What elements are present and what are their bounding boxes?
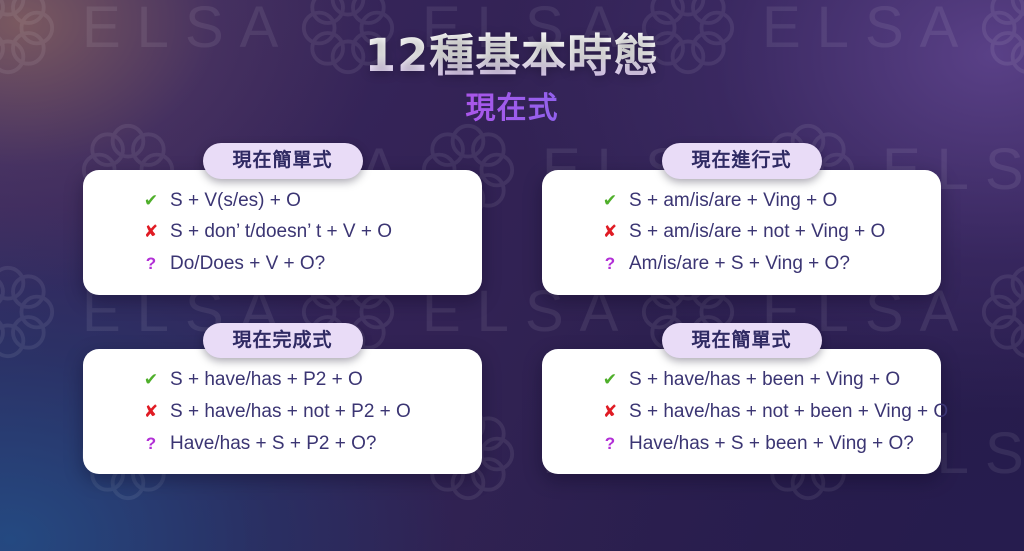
formula-row: ✘S + have/has + not + P2 + O [143, 399, 482, 425]
formula-row: ✘S + don’ t/doesn’ t + V + O [143, 219, 482, 245]
negative-mark-icon: ✘ [143, 223, 159, 240]
formula-row: ✘S + have/has + not + been + Ving + O [602, 399, 941, 425]
formula-text: S + have/has + been + Ving + O [629, 367, 900, 393]
formula-row: ✔S + have/has + P2 + O [143, 367, 482, 393]
formula-list: ✔S + have/has + P2 + O✘S + have/has + no… [83, 367, 482, 456]
formula-row: ?Have/has + S + P2 + O? [143, 431, 482, 457]
formula-text: S + don’ t/doesn’ t + V + O [170, 219, 392, 245]
tense-block-present-perfect-continuous: 現在簡單式✔S + have/has + been + Ving + O✘S +… [542, 323, 941, 475]
formula-text: Have/has + S + P2 + O? [170, 431, 377, 457]
tense-title-pill-present-simple: 現在簡單式 [203, 143, 363, 179]
negative-mark-icon: ✘ [602, 403, 618, 420]
tense-card-present-simple: ✔S + V(s/es) + O✘S + don’ t/doesn’ t + V… [83, 170, 482, 295]
tense-card-present-continuous: ✔S + am/is/are + Ving + O✘S + am/is/are … [542, 170, 941, 295]
negative-mark-icon: ✘ [143, 403, 159, 420]
question-mark-icon: ? [143, 255, 159, 272]
page-subtitle: 現在式 [0, 92, 1024, 125]
tense-title-pill-present-perfect: 現在完成式 [203, 323, 363, 359]
poster-header: 12種基本時態 現在式 [0, 0, 1024, 125]
formula-row: ✘S + am/is/are + not + Ving + O [602, 219, 941, 245]
tense-title-pill-present-perfect-continuous: 現在簡單式 [662, 323, 822, 359]
tense-block-present-perfect: 現在完成式✔S + have/has + P2 + O✘S + have/has… [83, 323, 482, 475]
formula-list: ✔S + have/has + been + Ving + O✘S + have… [542, 367, 941, 456]
tense-title-pill-present-continuous: 現在進行式 [662, 143, 822, 179]
formula-text: S + have/has + P2 + O [170, 367, 363, 393]
question-mark-icon: ? [602, 255, 618, 272]
tense-card-present-perfect: ✔S + have/has + P2 + O✘S + have/has + no… [83, 349, 482, 474]
negative-mark-icon: ✘ [602, 223, 618, 240]
formula-row: ?Do/Does + V + O? [143, 251, 482, 277]
poster-canvas: ELSAELSAELSAELSAELSAELSAELSAELSAELSAELSA… [0, 0, 1024, 551]
formula-text: S + am/is/are + not + Ving + O [629, 219, 885, 245]
formula-row: ✔S + have/has + been + Ving + O [602, 367, 941, 393]
formula-row: ?Have/has + S + been + Ving + O? [602, 431, 941, 457]
formula-text: S + V(s/es) + O [170, 188, 301, 214]
tense-block-present-continuous: 現在進行式✔S + am/is/are + Ving + O✘S + am/is… [542, 143, 941, 295]
formula-text: S + am/is/are + Ving + O [629, 188, 837, 214]
elsa-star-logo-icon [980, 264, 1024, 360]
formula-text: Am/is/are + S + Ving + O? [629, 251, 850, 277]
tense-block-present-simple: 現在簡單式✔S + V(s/es) + O✘S + don’ t/doesn’ … [83, 143, 482, 295]
affirmative-mark-icon: ✔ [602, 192, 618, 209]
formula-text: S + have/has + not + P2 + O [170, 399, 411, 425]
tense-card-present-perfect-continuous: ✔S + have/has + been + Ving + O✘S + have… [542, 349, 941, 474]
question-mark-icon: ? [602, 435, 618, 452]
formula-list: ✔S + am/is/are + Ving + O✘S + am/is/are … [542, 188, 941, 277]
affirmative-mark-icon: ✔ [602, 371, 618, 388]
watermark-mark: ELSA [980, 264, 1024, 360]
elsa-star-logo-icon [0, 264, 56, 360]
formula-row: ?Am/is/are + S + Ving + O? [602, 251, 941, 277]
formula-text: Do/Does + V + O? [170, 251, 325, 277]
formula-row: ✔S + V(s/es) + O [143, 188, 482, 214]
formula-text: Have/has + S + been + Ving + O? [629, 431, 914, 457]
formula-row: ✔S + am/is/are + Ving + O [602, 188, 941, 214]
tense-grid: 現在簡單式✔S + V(s/es) + O✘S + don’ t/doesn’ … [83, 143, 941, 475]
page-title: 12種基本時態 [0, 30, 1024, 82]
formula-text: S + have/has + not + been + Ving + O [629, 399, 948, 425]
affirmative-mark-icon: ✔ [143, 371, 159, 388]
affirmative-mark-icon: ✔ [143, 192, 159, 209]
formula-list: ✔S + V(s/es) + O✘S + don’ t/doesn’ t + V… [83, 188, 482, 277]
question-mark-icon: ? [143, 435, 159, 452]
